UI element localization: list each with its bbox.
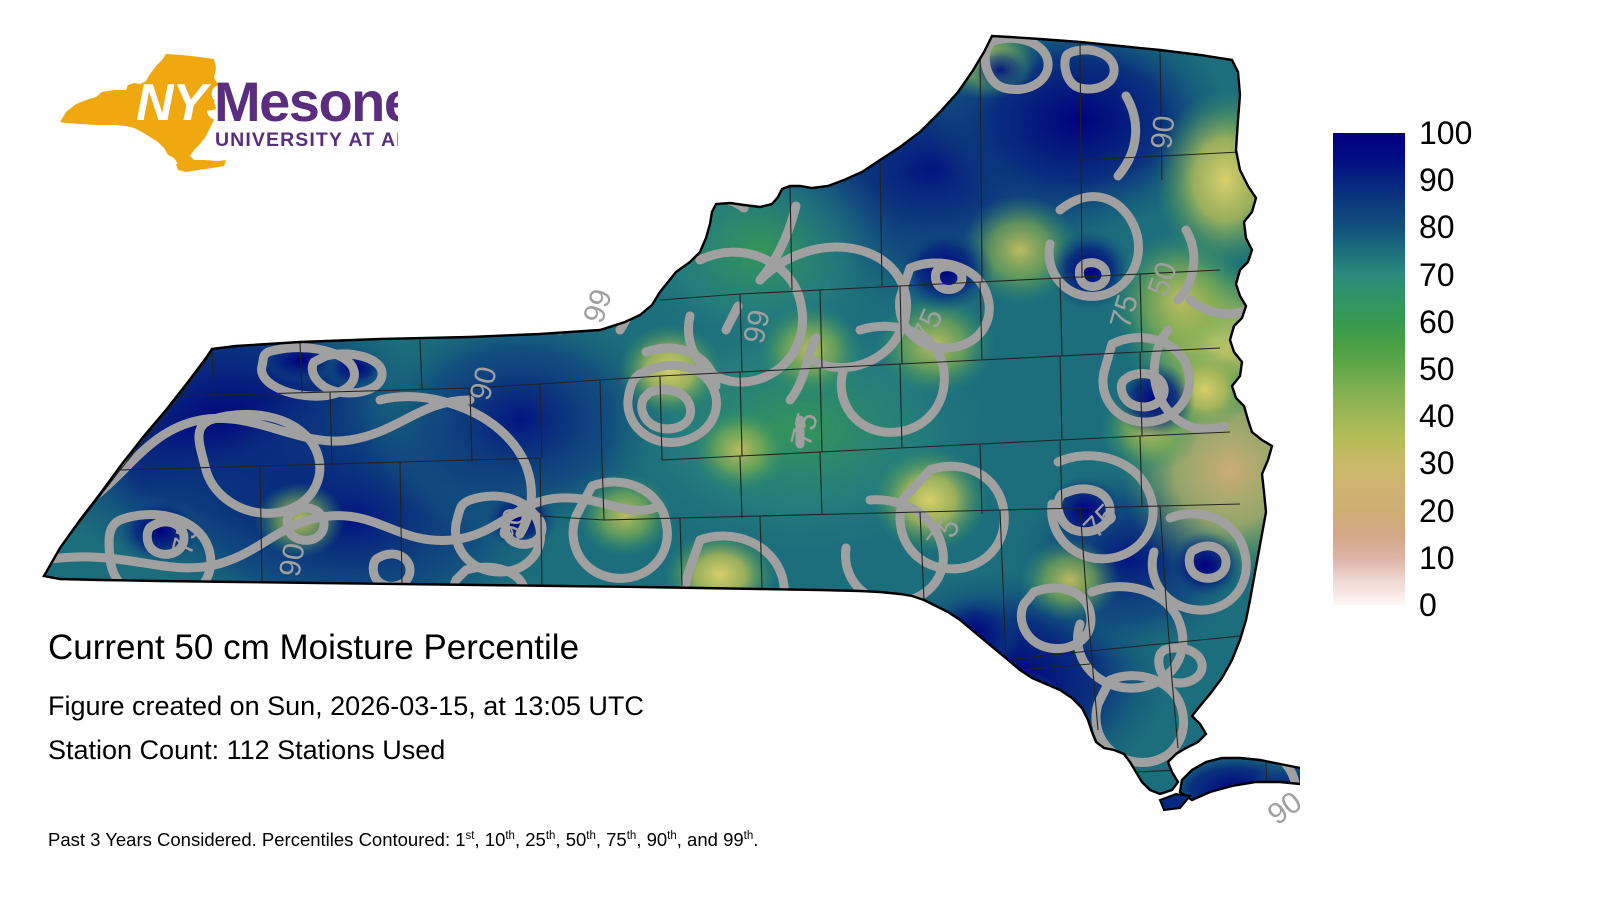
contour-label-90-c: 90 (273, 541, 311, 580)
contour-footnote: Past 3 Years Considered. Percentiles Con… (48, 828, 758, 852)
contour-label-90-li: 90 (1262, 785, 1300, 831)
colorbar-tick-20: 20 (1419, 495, 1455, 527)
colorbar-tick-60: 60 (1419, 306, 1455, 338)
figure-title: Current 50 cm Moisture Percentile (48, 626, 1048, 670)
colorbar-tick-40: 40 (1419, 400, 1455, 432)
colorbar-tick-50: 50 (1419, 353, 1455, 385)
colorbar-tick-100: 100 (1419, 117, 1472, 149)
nys-mesonet-logo: NYS Mesonet UNIVERSITY AT ALBANY (58, 48, 398, 183)
colorbar-tick-80: 80 (1419, 211, 1455, 243)
colorbar-gradient (1333, 133, 1405, 605)
colorbar-tick-70: 70 (1419, 259, 1455, 291)
logo-mesonet-text: Mesonet (214, 70, 398, 133)
station-count-line: Station Count: 112 Stations Used (48, 728, 1048, 772)
percentile-colorbar: 1009080706050403020100 (1333, 122, 1593, 622)
created-timestamp-line: Figure created on Sun, 2026-03-15, at 13… (48, 684, 1048, 728)
colorbar-tick-labels: 1009080706050403020100 (1419, 122, 1539, 616)
colorbar-tick-0: 0 (1419, 589, 1437, 621)
contour-label-99: 99 (738, 307, 777, 347)
staten-island-outline (1160, 794, 1190, 810)
figure-caption-block: Current 50 cm Moisture Percentile Figure… (48, 626, 1048, 772)
colorbar-tick-30: 30 (1419, 447, 1455, 479)
long-island-logo-shape (176, 160, 226, 172)
colorbar-tick-90: 90 (1419, 164, 1455, 196)
contour-label-90-d: 90 (1145, 114, 1181, 151)
logo-subtitle-text: UNIVERSITY AT ALBANY (215, 129, 398, 151)
colorbar-tick-10: 10 (1419, 542, 1455, 574)
contour-label-99-b: 99 (577, 285, 619, 327)
contour-label-90-b: 90 (493, 506, 531, 545)
